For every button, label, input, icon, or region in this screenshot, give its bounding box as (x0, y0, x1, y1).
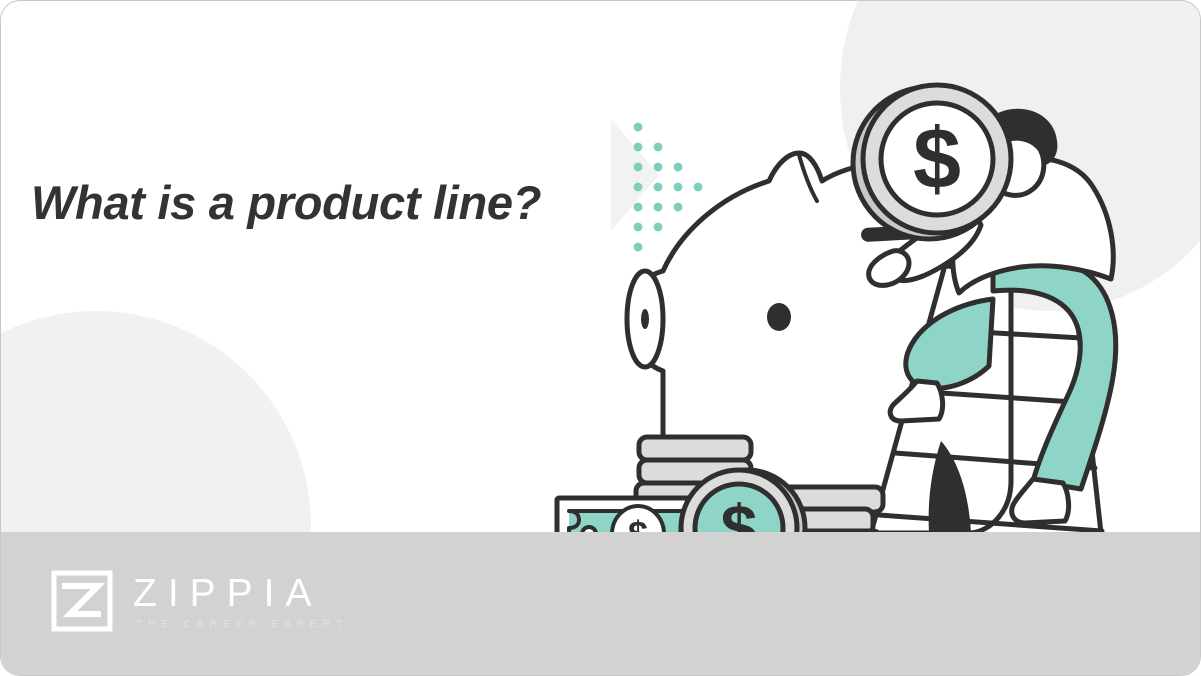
zippia-tagline: THE CAREER EXPERT (136, 620, 348, 630)
piggy-bank-illustration: .ink { stroke:#2F2F2F; stroke-width:5; f… (541, 41, 1201, 541)
zippia-logo[interactable]: ZIPPIA THE CAREER EXPERT (51, 570, 348, 632)
zippia-logo-text: ZIPPIA THE CAREER EXPERT (133, 572, 348, 630)
footer-bar: ZIPPIA THE CAREER EXPERT (1, 532, 1201, 675)
triangle-accent-shape (611, 119, 659, 231)
large-dollar-coin: $ (853, 85, 1011, 239)
page-title: What is a product line? (31, 169, 551, 237)
person-shoe-lower (1012, 479, 1069, 523)
promo-card: What is a product line? .ink { stroke:#2… (0, 0, 1201, 676)
dollar-symbol: $ (913, 111, 961, 207)
zippia-wordmark: ZIPPIA (133, 574, 348, 613)
zippia-z-mark-icon (51, 570, 113, 632)
